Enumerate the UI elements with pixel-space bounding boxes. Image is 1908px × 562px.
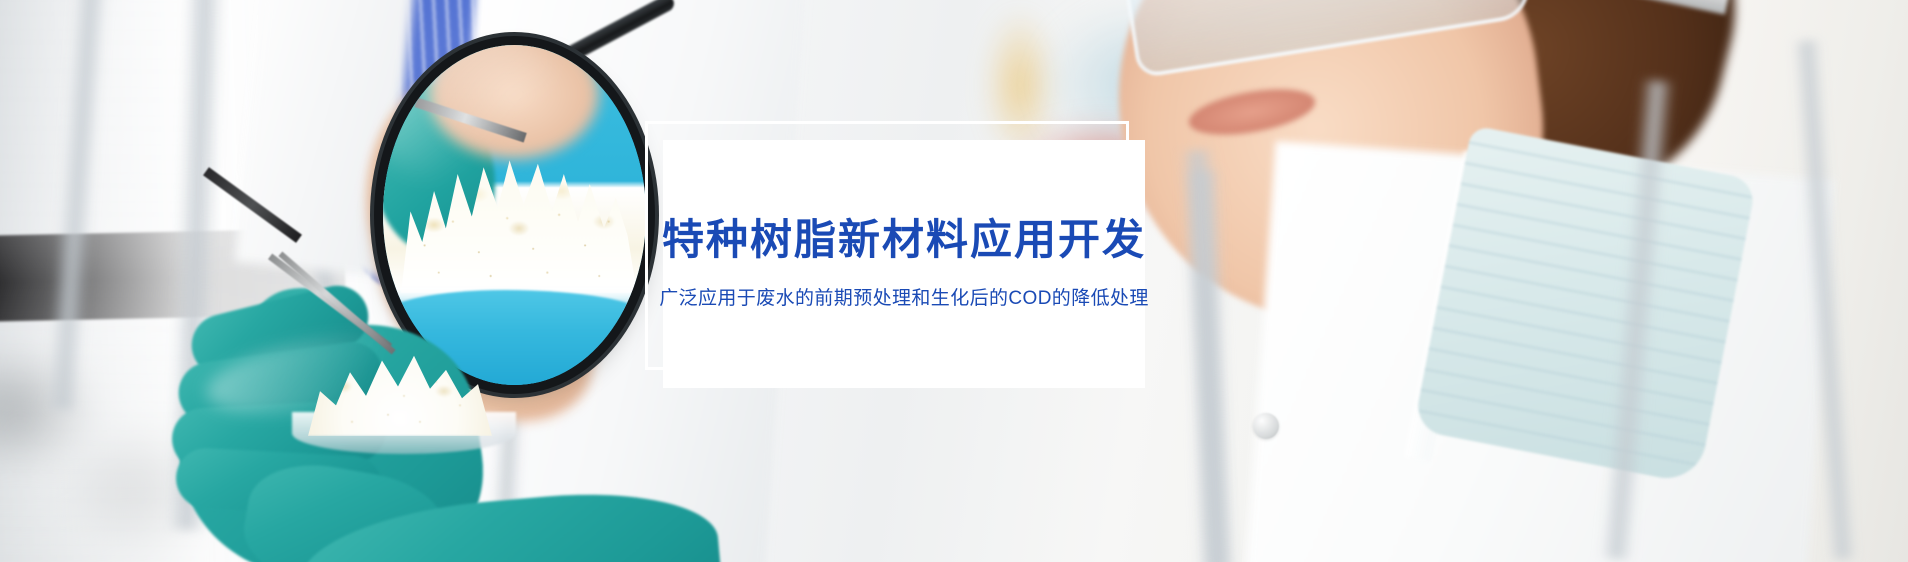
hero-banner: 特种树脂新材料应用开发 广泛应用于废水的前期预处理和生化后的COD的降低处理 — [0, 0, 1908, 562]
banner-text-card: 特种树脂新材料应用开发 广泛应用于废水的前期预处理和生化后的COD的降低处理 — [663, 140, 1145, 388]
magnifier-lens-circle — [383, 45, 646, 385]
face-mask — [1413, 125, 1757, 485]
coat-button — [1253, 413, 1279, 439]
banner-title: 特种树脂新材料应用开发 — [662, 215, 1146, 265]
banner-subtitle: 广泛应用于废水的前期预处理和生化后的COD的降低处理 — [659, 286, 1149, 313]
